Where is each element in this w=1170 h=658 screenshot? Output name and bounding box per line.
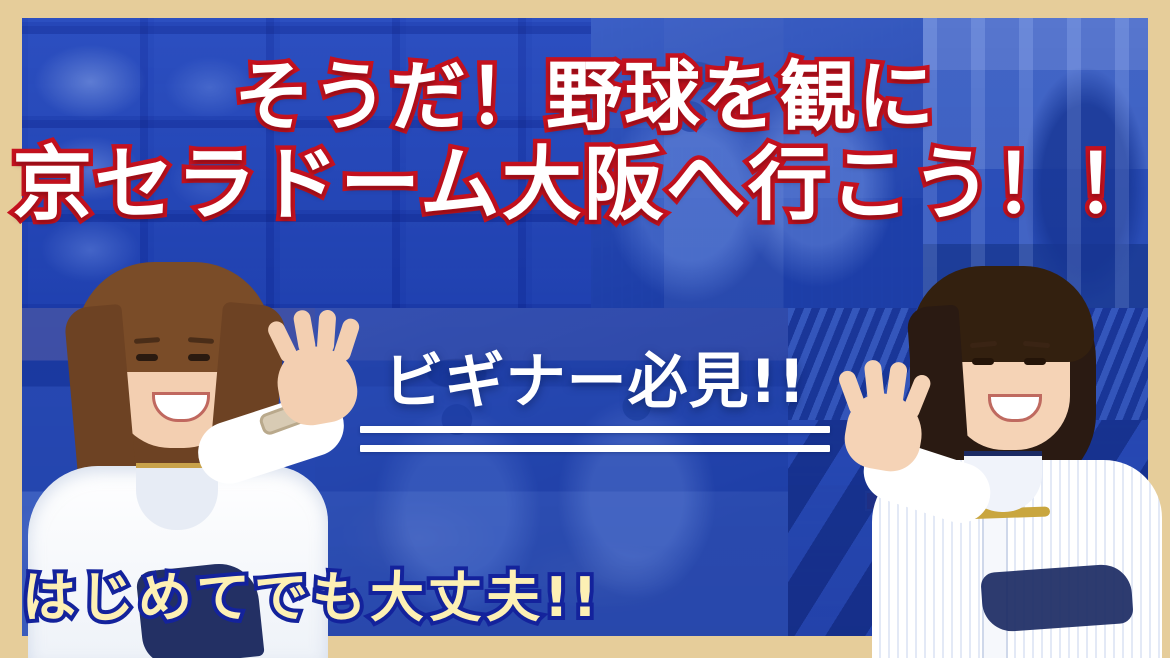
collage-panel-fan-mural <box>591 18 923 308</box>
food-stall-photo <box>22 308 315 636</box>
concourse-photo <box>923 18 1148 308</box>
collage-panel-food-stall <box>22 308 315 636</box>
collage-panel-corridor <box>923 18 1148 308</box>
fan-posing-photo <box>591 18 923 308</box>
stadium-seats-photo <box>788 420 1148 636</box>
collage-panel-seats <box>788 308 1148 636</box>
youtube-thumbnail: そうだ！野球を観に 京セラドーム大阪へ行こう！！ ビギナー必見!! <box>0 0 1170 658</box>
cap-shelf-photo <box>22 18 591 308</box>
collage-panel-concession <box>315 308 788 636</box>
collage-panel-shop <box>22 18 591 308</box>
photo-collage <box>22 18 1148 636</box>
crowd-photo <box>788 308 1148 419</box>
fan-with-tray-photo <box>315 308 788 636</box>
